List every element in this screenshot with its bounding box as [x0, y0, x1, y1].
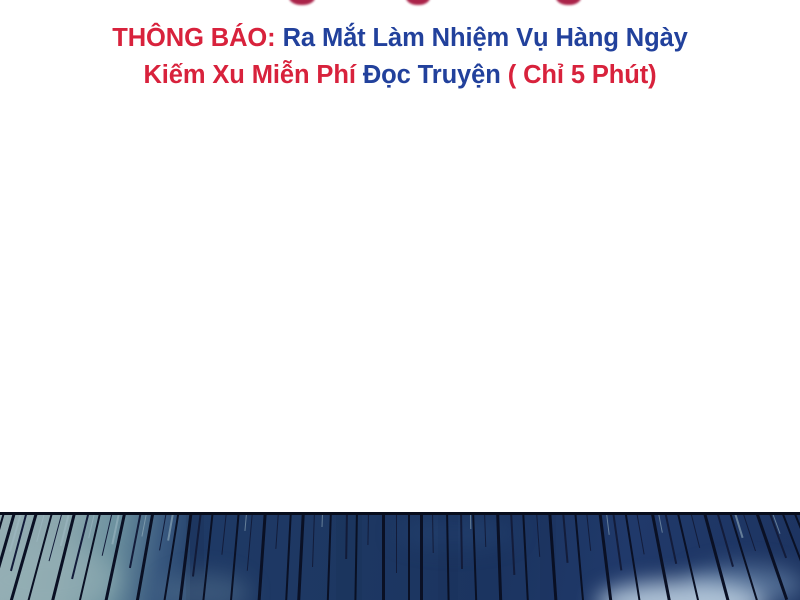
webtoon-reader-page: THÔNG BÁO: Ra Mắt Làm Nhiệm Vụ Hàng Ngày… [0, 0, 800, 600]
facade-tone-wash [336, 515, 362, 600]
facade-tone-wash [540, 515, 556, 600]
announcement-line-1: THÔNG BÁO: Ra Mắt Làm Nhiệm Vụ Hàng Ngày [0, 22, 800, 56]
announcement-reward-label: Kiếm Xu Miễn Phí [143, 61, 355, 89]
announcement-label-red: THÔNG BÁO: [112, 24, 275, 52]
facade-tone-wash [186, 515, 204, 600]
announcement-banner: THÔNG BÁO: Ra Mắt Làm Nhiệm Vụ Hàng Ngày… [0, 22, 800, 92]
announcement-action-label: Đọc Truyện [363, 61, 501, 89]
facade-mullion [408, 515, 410, 600]
scrolled-off-text-remnant [0, 0, 800, 8]
facade-mullion [396, 515, 397, 573]
announcement-label-navy: Ra Mắt Làm Nhiệm Vụ Hàng Ngày [283, 24, 688, 52]
facade-mullion [382, 515, 385, 600]
comic-panel-building-facade [0, 512, 800, 600]
facade-mullion [420, 515, 423, 600]
glyph-remnant-1 [289, 0, 315, 5]
announcement-duration-label: ( Chỉ 5 Phút) [508, 61, 657, 89]
announcement-line-2: Kiếm Xu Miễn Phí Đọc Truyện ( Chỉ 5 Phút… [0, 59, 800, 93]
facade-tone-wash [438, 515, 458, 600]
glyph-remnant-2 [406, 0, 430, 5]
comic-panel-artwork [0, 515, 800, 600]
glyph-remnant-3 [556, 0, 581, 5]
facade-reflection-sliver [470, 515, 471, 529]
